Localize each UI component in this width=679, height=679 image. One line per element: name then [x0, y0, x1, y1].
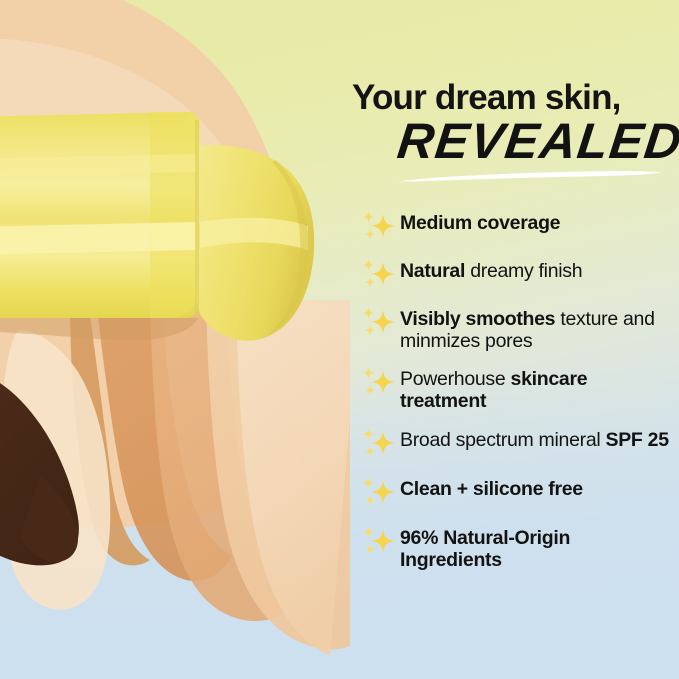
- benefit-text: Medium coverage: [400, 212, 676, 235]
- benefit-item-visibly-smoothes: Visibly smoothes texture and minmizes po…: [358, 308, 676, 352]
- brush-swoosh-underline-icon: [394, 170, 664, 184]
- benefit-text: 96% Natural-Origin Ingredients: [400, 527, 676, 571]
- benefit-text: Broad spectrum mineral SPF 25: [400, 429, 676, 452]
- headline-line-1: Your dream skin,: [352, 80, 672, 116]
- benefit-item-clean-silicone-free: Clean + silicone free: [358, 478, 676, 510]
- marketing-image: Your dream skin, REVEALED: [0, 0, 679, 679]
- benefit-text: Visibly smoothes texture and minmizes po…: [400, 308, 676, 352]
- benefit-item-natural-finish: Natural dreamy finish: [358, 260, 676, 292]
- sparkle-icon: [358, 427, 400, 461]
- sparkle-icon: [358, 258, 400, 292]
- headline-line-2-wrap: REVEALED: [352, 118, 672, 180]
- benefit-text: Natural dreamy finish: [400, 260, 676, 283]
- product-tube-seam: [195, 120, 199, 318]
- benefit-text: Clean + silicone free: [400, 478, 676, 501]
- sparkle-icon: [358, 525, 400, 559]
- sparkle-icon: [358, 306, 400, 340]
- sparkle-icon: [358, 476, 400, 510]
- product-artwork: [0, 0, 350, 679]
- benefit-item-skincare-treatment: Powerhouse skincare treatment: [358, 368, 676, 412]
- headline-line-2: REVEALED: [395, 116, 679, 166]
- benefit-item-medium-coverage: Medium coverage: [358, 212, 676, 244]
- headline-block: Your dream skin, REVEALED: [352, 80, 672, 180]
- sparkle-icon: [358, 210, 400, 244]
- benefit-item-natural-origin: 96% Natural-Origin Ingredients: [358, 527, 676, 571]
- sparkle-icon: [358, 366, 400, 400]
- product-tube-body-edge: [150, 112, 197, 318]
- benefit-item-spf: Broad spectrum mineral SPF 25: [358, 429, 676, 461]
- benefits-list: Medium coverage Natural dreamy finish: [358, 212, 676, 571]
- content-column: Your dream skin, REVEALED: [352, 0, 679, 679]
- benefit-text: Powerhouse skincare treatment: [400, 368, 676, 412]
